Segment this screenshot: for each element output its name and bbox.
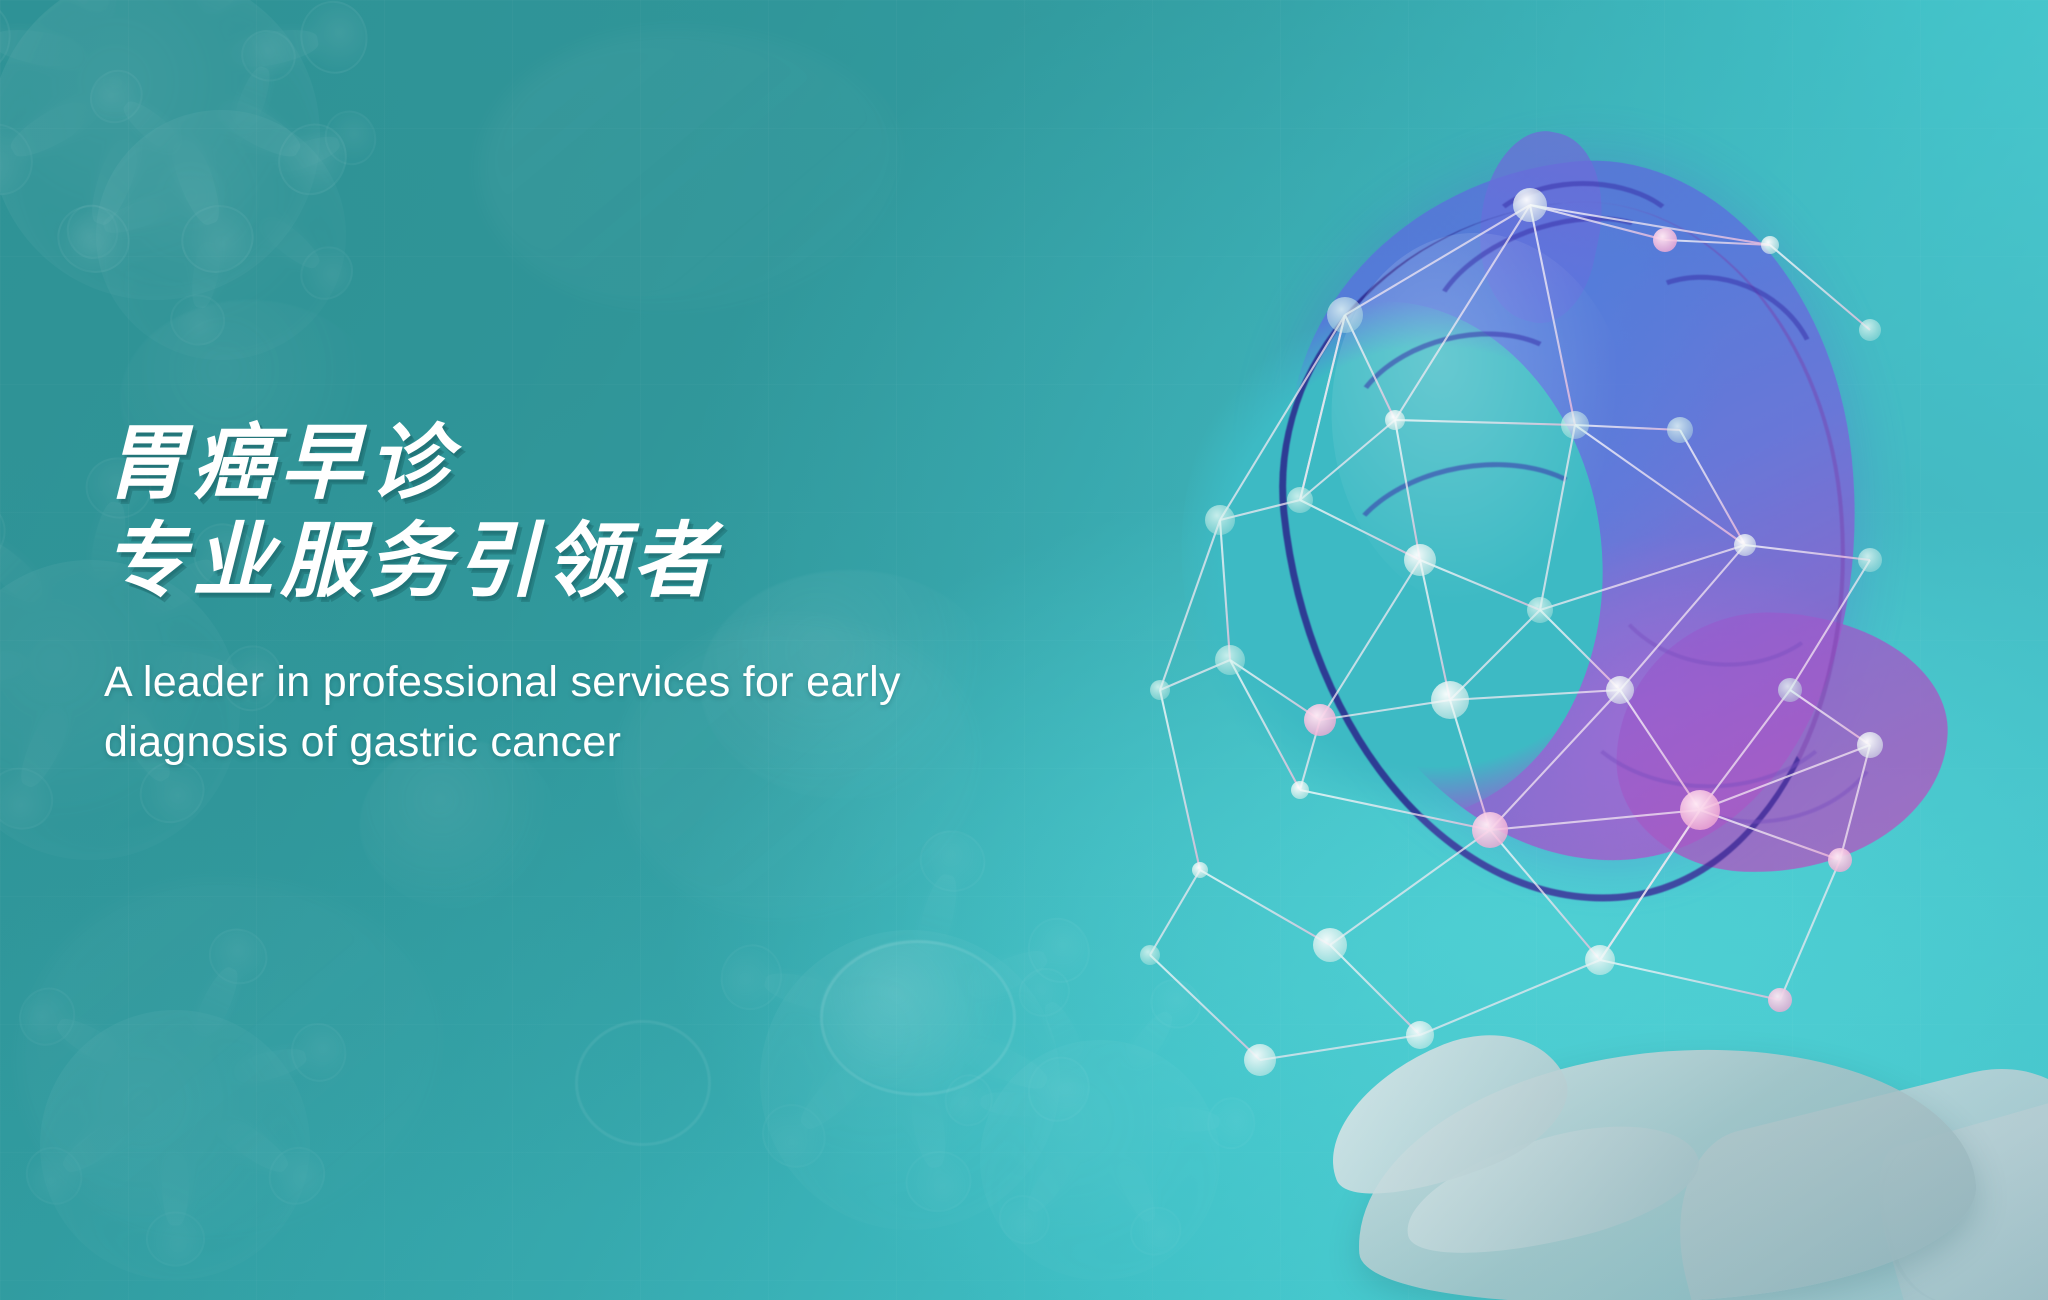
stomach-organ (1261, 130, 1955, 931)
hero-copy: 胃癌早诊 专业服务引领者 A leader in professional se… (104, 418, 1204, 771)
subtitle-line-2: diagnosis of gastric cancer (104, 714, 1114, 771)
headline-line-1: 胃癌早诊 (104, 418, 1204, 510)
stomach-in-hand-illustration (1238, 90, 2048, 1300)
subtitle-line-1: A leader in professional services for ea… (104, 654, 1114, 711)
hero-banner: 胃癌早诊 专业服务引领者 A leader in professional se… (0, 0, 2048, 1300)
headline-line-2: 专业服务引领者 (104, 516, 1204, 608)
